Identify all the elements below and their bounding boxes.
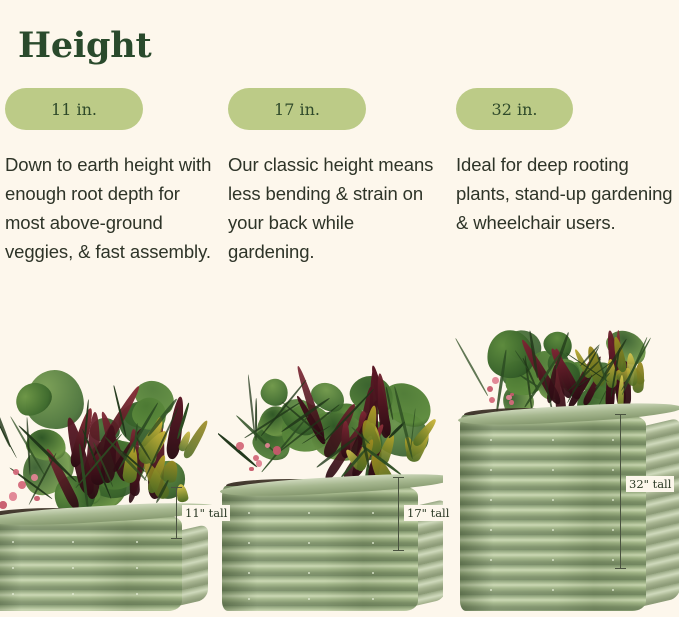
bed-screw [552, 499, 554, 501]
bed-screw [136, 593, 138, 595]
garden-bed-photo-11in [0, 370, 215, 617]
photo-content [448, 330, 679, 617]
plant-bloom [236, 442, 244, 450]
bed-screw [552, 559, 554, 561]
plant-bloom [487, 386, 493, 392]
garden-bed-photo-32in [448, 330, 679, 617]
bed-screw [552, 439, 554, 441]
height-pill-label: 17 in. [274, 100, 320, 119]
plant-bloom [509, 400, 514, 405]
product-photo-row: 11" tall 17" tall 32" tall [0, 330, 679, 617]
bed-screw [248, 598, 250, 600]
plant-bloom [492, 377, 499, 384]
bed-screw [552, 529, 554, 531]
height-pill-label: 11 in. [51, 100, 97, 119]
raised-garden-bed [222, 486, 418, 611]
bed-screws [0, 515, 182, 611]
plant-foliage [218, 350, 443, 492]
bed-screw [552, 589, 554, 591]
photo-content [0, 370, 215, 617]
dimension-label: 11" tall [182, 505, 230, 521]
dimension-line [620, 414, 621, 569]
plant-blade [455, 338, 489, 397]
plant-bloom [249, 467, 254, 472]
height-option-column: 32 in. Ideal for deep rooting plants, st… [456, 88, 674, 256]
photo-content [218, 350, 443, 617]
bed-screw [612, 469, 614, 471]
bed-screw [248, 512, 250, 514]
plant-bloom [0, 501, 7, 509]
height-pill-label: 32 in. [492, 100, 538, 119]
plant-bloom [31, 474, 38, 481]
bed-screw [612, 529, 614, 531]
bed-screw [490, 499, 492, 501]
bed-screw [552, 469, 554, 471]
bed-screws [460, 415, 646, 611]
bed-screw [490, 469, 492, 471]
height-option-column: 11 in. Down to earth height with enough … [5, 88, 220, 285]
plant-bloom [34, 496, 39, 501]
bed-screw [308, 512, 310, 514]
bed-screw [612, 589, 614, 591]
bed-screw [308, 542, 310, 544]
height-pill-17in[interactable]: 17 in. [228, 88, 366, 130]
plant-bloom [18, 481, 26, 489]
dimension-line [176, 487, 177, 539]
dimension-cap-bottom [393, 550, 404, 551]
bed-screw [372, 512, 374, 514]
raised-garden-bed [0, 515, 182, 611]
plant-bloom [253, 455, 259, 461]
plant-bloom [13, 469, 19, 475]
dimension-label: 17" tall [404, 505, 452, 521]
height-pill-32in[interactable]: 32 in. [456, 88, 573, 130]
page-title: Height [18, 25, 152, 67]
bed-screw [490, 589, 492, 591]
dimension-cap-bottom [171, 538, 182, 539]
height-description: Down to earth height with enough root de… [5, 150, 220, 266]
plant-foliage [0, 370, 215, 521]
bed-screw [12, 567, 14, 569]
bed-screw [490, 529, 492, 531]
bed-screw [612, 499, 614, 501]
dimension-label: 32" tall [626, 476, 674, 492]
plant-bloom [489, 397, 495, 403]
garden-bed-photo-17in [218, 350, 443, 617]
dimension-line [398, 477, 399, 551]
bed-screw [248, 542, 250, 544]
bed-screws [222, 486, 418, 611]
bed-screw [490, 559, 492, 561]
bed-screw [12, 541, 14, 543]
dimension-cap-bottom [615, 568, 626, 569]
bed-screw [72, 541, 74, 543]
plant-bloom [256, 460, 262, 466]
bed-screw [612, 559, 614, 561]
plant-bloom [273, 446, 281, 454]
bed-screw [612, 439, 614, 441]
height-pill-11in[interactable]: 11 in. [5, 88, 143, 130]
raised-garden-bed [460, 415, 646, 611]
height-description: Our classic height means less bending & … [228, 150, 443, 266]
bed-screw [12, 593, 14, 595]
bed-screw [248, 572, 250, 574]
bed-screw [308, 598, 310, 600]
bed-screw [136, 567, 138, 569]
bed-screw [136, 541, 138, 543]
height-comparison-page: Height 11 in. Down to earth height with … [0, 0, 679, 617]
bed-screw [372, 542, 374, 544]
bed-screw [490, 439, 492, 441]
bed-screw [372, 572, 374, 574]
plant-bloom [9, 492, 18, 501]
height-option-column: 17 in. Our classic height means less ben… [228, 88, 443, 285]
bed-screw [72, 567, 74, 569]
height-description: Ideal for deep rooting plants, stand-up … [456, 150, 674, 237]
bed-screw [72, 593, 74, 595]
bed-screw [372, 598, 374, 600]
bed-screw [308, 572, 310, 574]
